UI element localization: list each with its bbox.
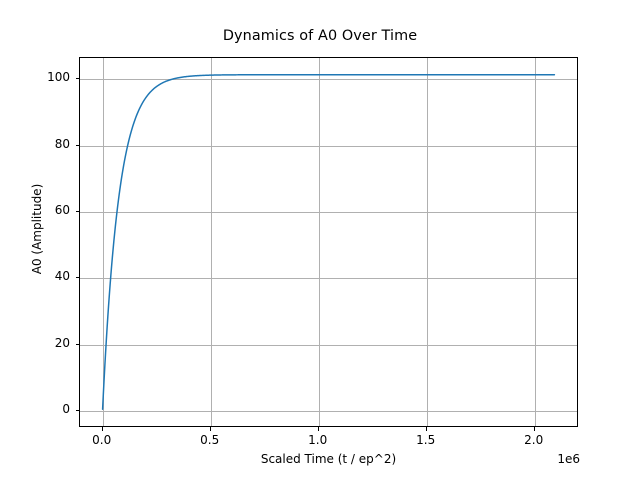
chart-title: Dynamics of A0 Over Time — [0, 28, 640, 44]
y-tick-mark — [76, 410, 80, 411]
plot-inner — [80, 58, 577, 426]
figure-canvas: Dynamics of A0 Over Time 0.00.51.01.52.0… — [0, 0, 640, 480]
y-axis-label: A0 (Amplitude) — [30, 89, 44, 369]
x-tick-mark — [318, 427, 319, 431]
x-tick-label: 0.0 — [72, 433, 132, 447]
x-tick-label: 1.5 — [396, 433, 456, 447]
y-tick-mark — [76, 211, 80, 212]
y-tick-label: 100 — [10, 70, 70, 84]
data-line-svg — [80, 58, 577, 426]
y-tick-mark — [76, 145, 80, 146]
x-tick-label: 2.0 — [504, 433, 564, 447]
y-tick-mark — [76, 344, 80, 345]
plot-area — [79, 57, 578, 427]
x-tick-mark — [102, 427, 103, 431]
x-axis-offset-text: 1e6 — [520, 452, 580, 466]
y-tick-label: 0 — [10, 402, 70, 416]
x-tick-mark — [534, 427, 535, 431]
y-tick-mark — [76, 277, 80, 278]
y-tick-mark — [76, 78, 80, 79]
x-tick-mark — [426, 427, 427, 431]
x-axis-label: Scaled Time (t / ep^2) — [79, 452, 578, 466]
series-line-a0 — [103, 75, 555, 410]
x-tick-mark — [210, 427, 211, 431]
x-tick-label: 1.0 — [288, 433, 348, 447]
x-tick-label: 0.5 — [180, 433, 240, 447]
